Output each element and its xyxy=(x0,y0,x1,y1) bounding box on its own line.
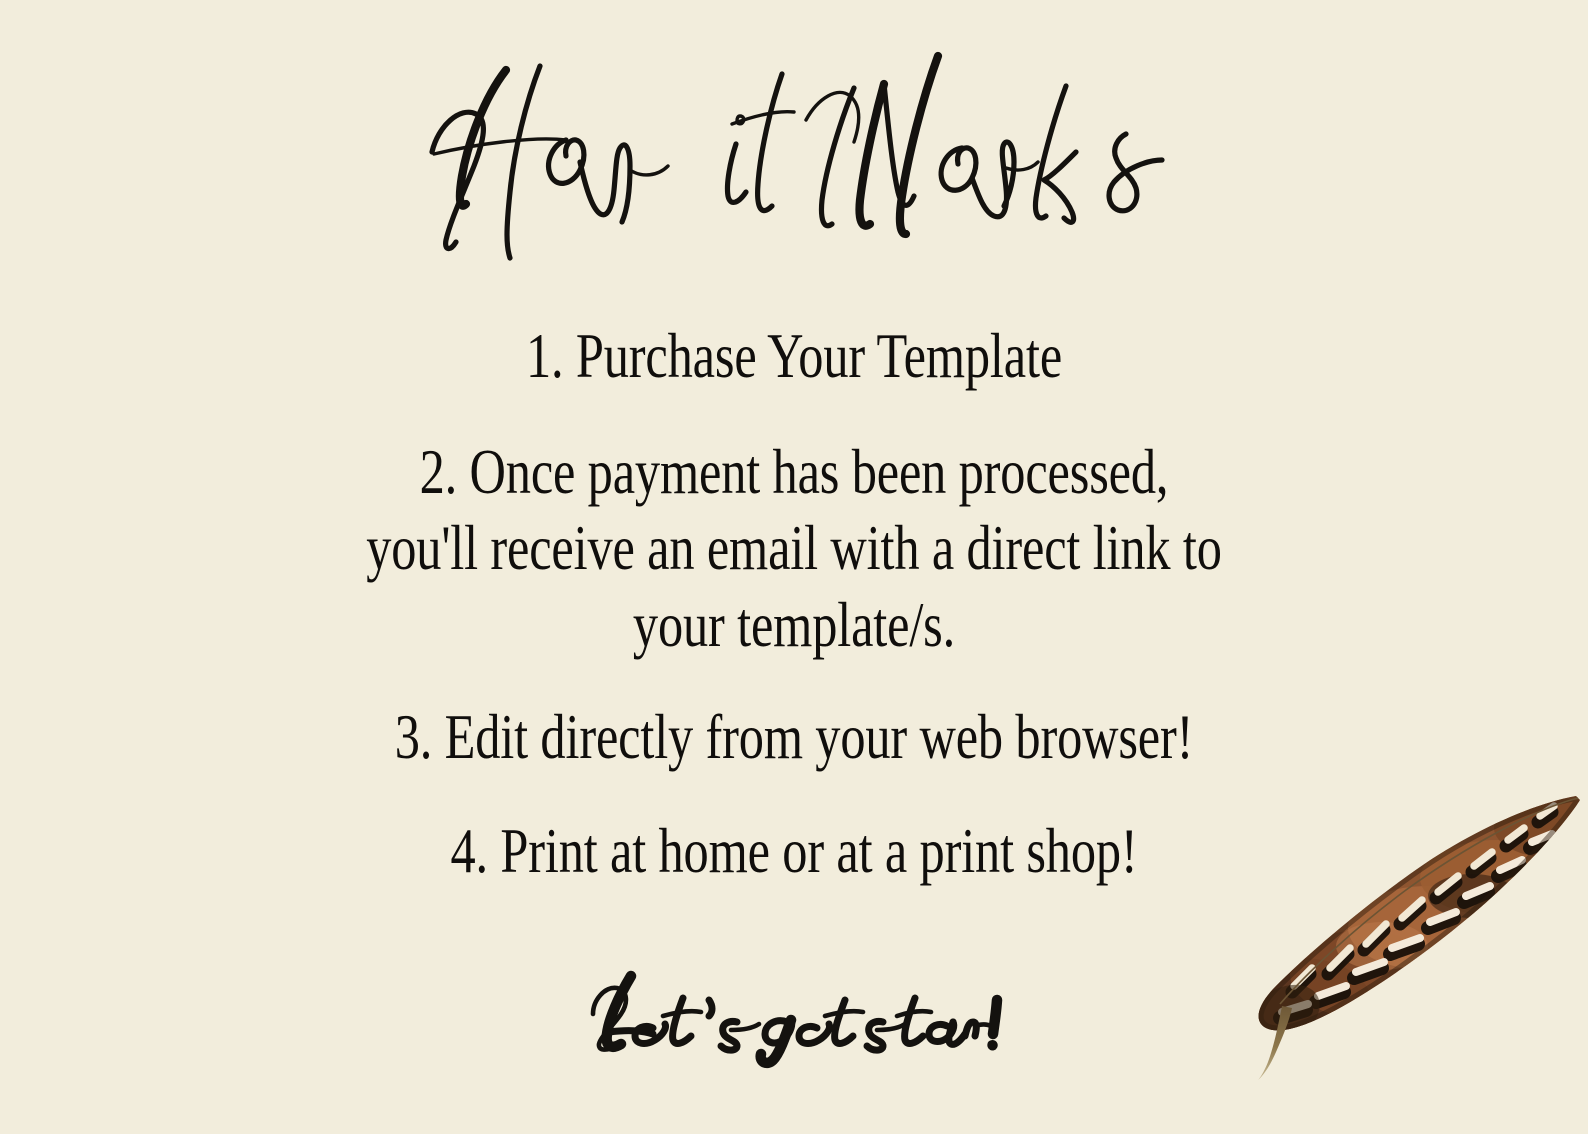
closing-script-artwork xyxy=(579,956,1009,1066)
page-title: How it Works xyxy=(0,44,1588,274)
how-it-works-card: How it Works xyxy=(0,0,1588,1134)
step-item-3: 3. Edit directly from your web browser! xyxy=(234,699,1354,775)
closing-line: Let's get started! xyxy=(0,956,1588,1066)
step-item-1: 1. Purchase Your Template xyxy=(234,318,1354,394)
page-title-script-artwork xyxy=(414,44,1174,274)
step-item-2: 2. Once payment has been processed, you'… xyxy=(234,434,1354,663)
step-item-4: 4. Print at home or at a print shop! xyxy=(234,813,1354,889)
steps-list: 1. Purchase Your Template 2. Once paymen… xyxy=(94,318,1494,889)
